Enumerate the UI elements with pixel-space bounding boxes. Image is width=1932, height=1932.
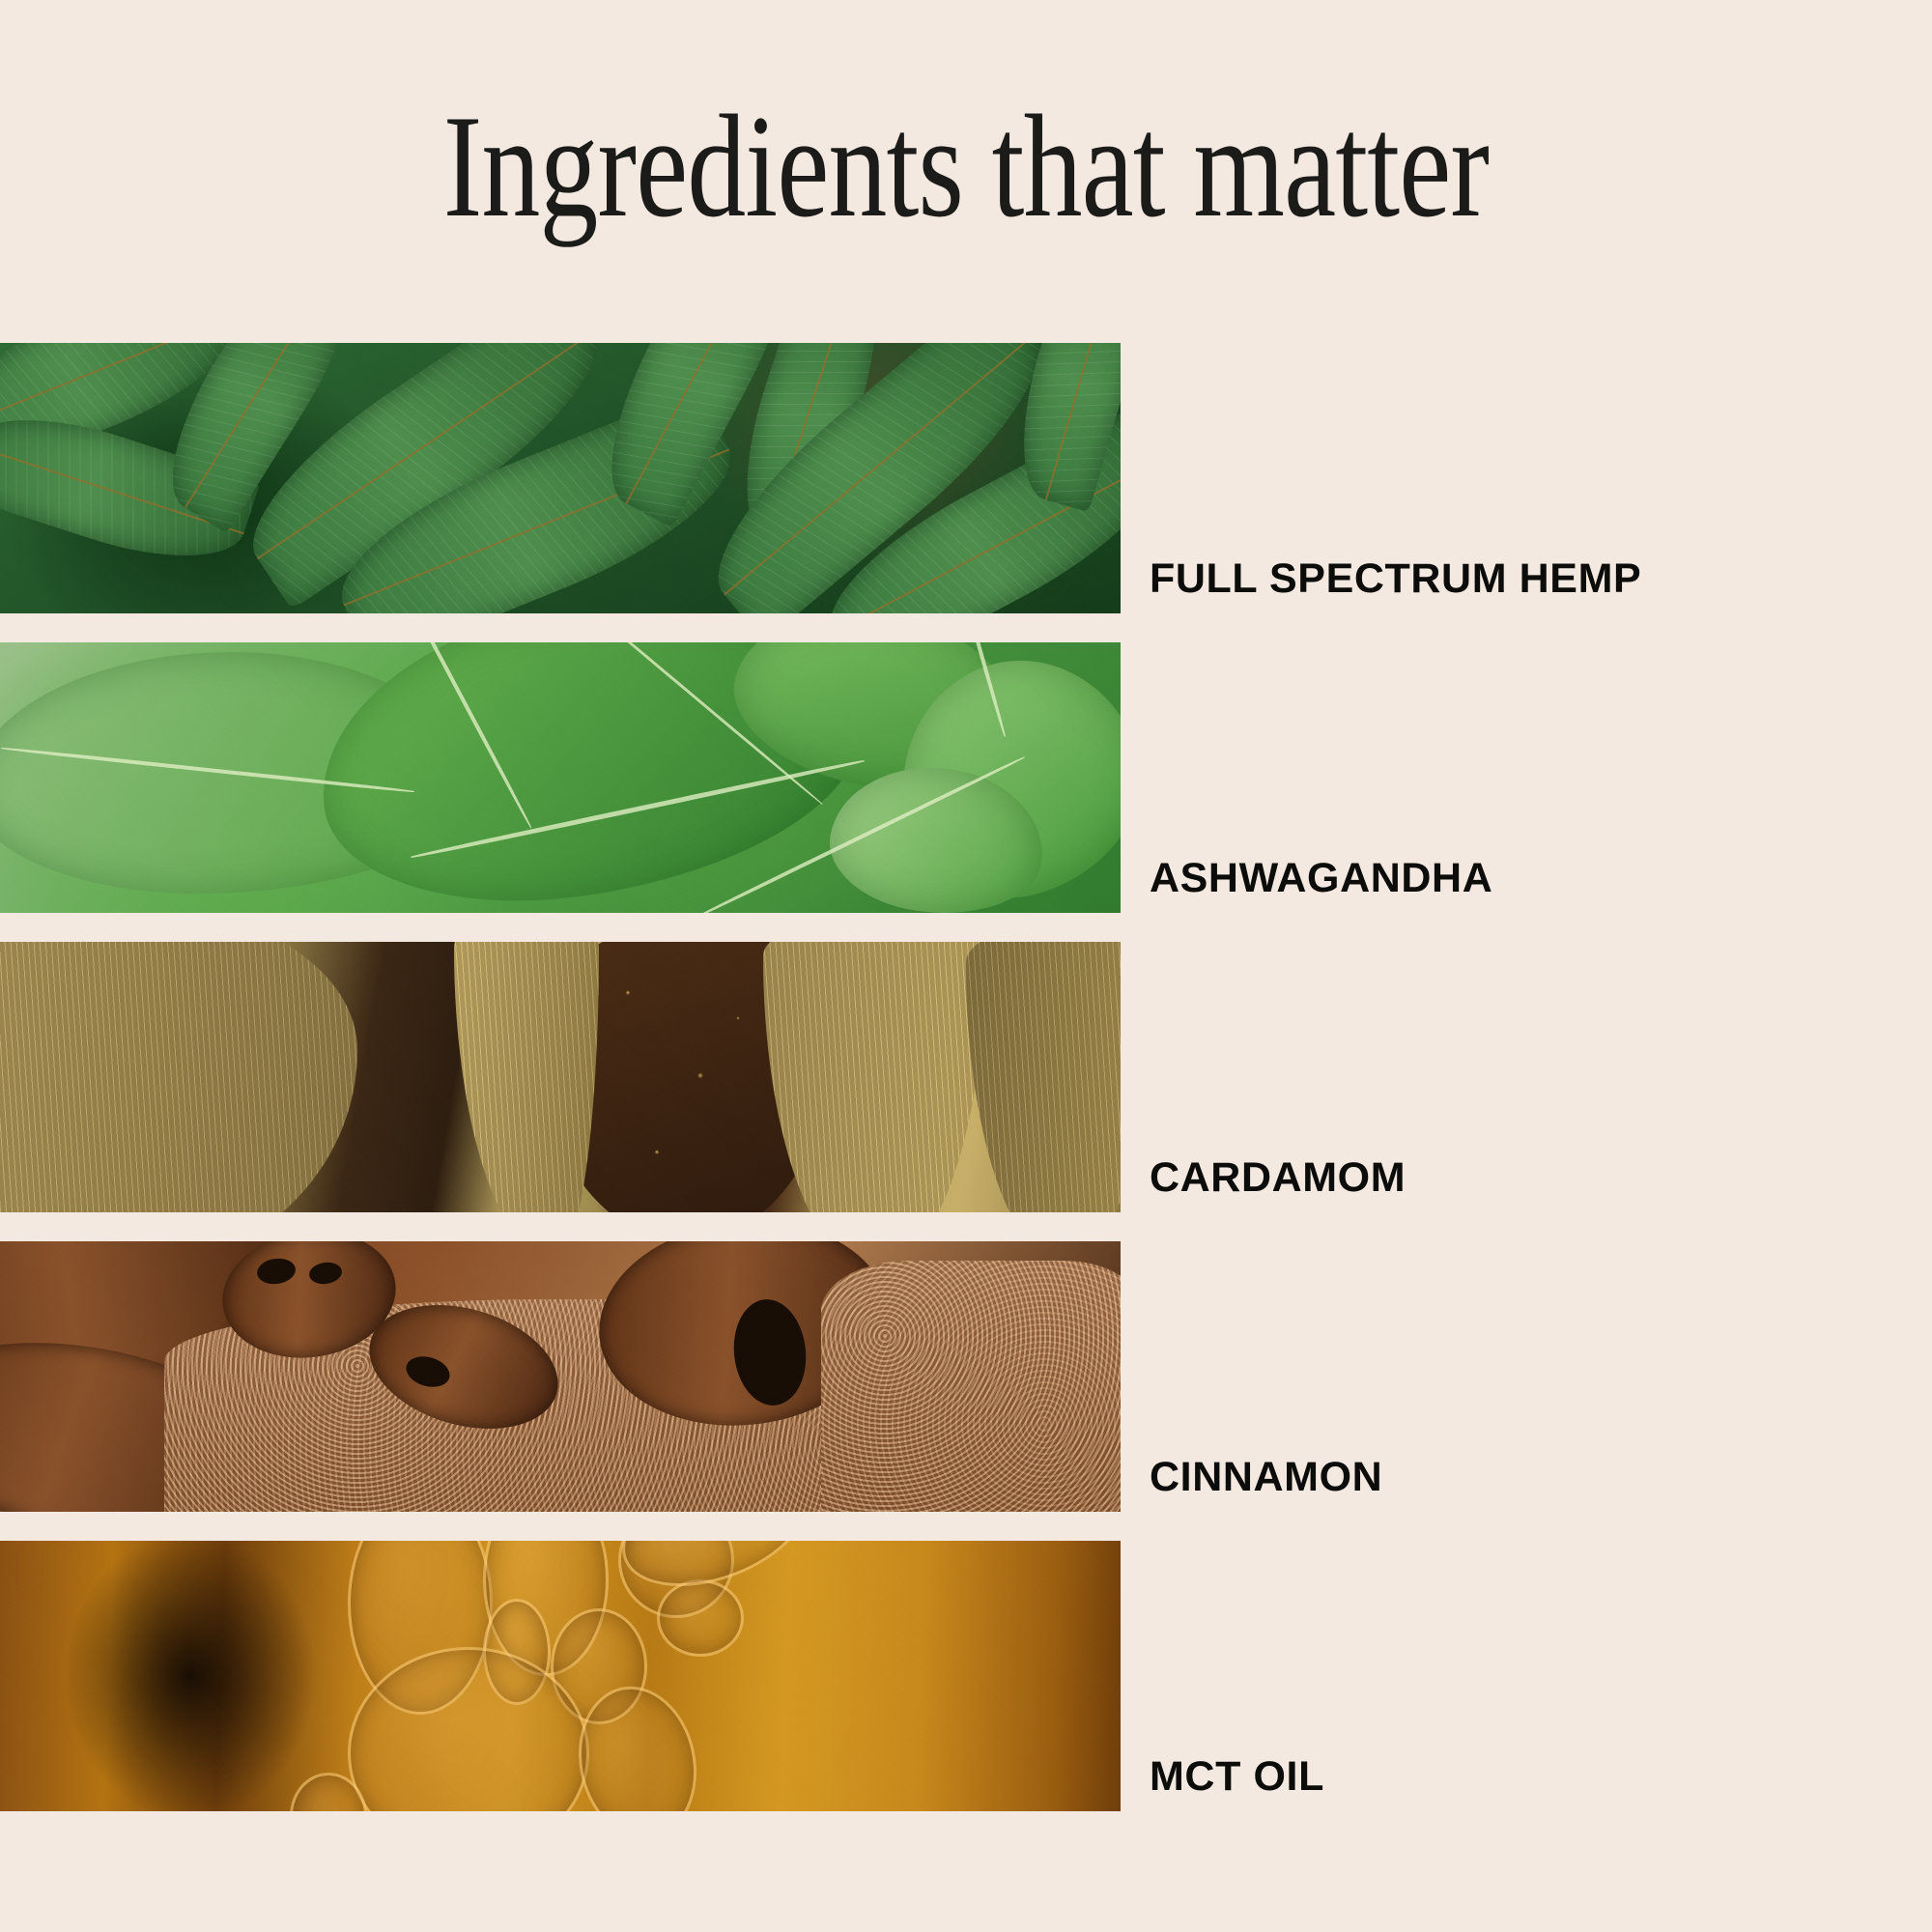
ingredient-label: ASHWAGANDHA [1150, 858, 1492, 899]
ingredient-row: MCT OIL [0, 1541, 1932, 1811]
ingredient-row: CINNAMON [0, 1241, 1932, 1512]
ingredient-row: FULL SPECTRUM HEMP [0, 343, 1932, 613]
ingredient-label: MCT OIL [1150, 1756, 1324, 1798]
ingredient-row: CARDAMOM [0, 942, 1932, 1212]
ingredient-list: FULL SPECTRUM HEMP ASHWAGANDHA [0, 343, 1932, 1811]
ashwagandha-image [0, 642, 1121, 913]
page-title: Ingredients that matter [193, 93, 1739, 240]
mct-oil-image [0, 1541, 1121, 1811]
ingredient-label: CARDAMOM [1150, 1157, 1406, 1199]
ingredient-label: FULL SPECTRUM HEMP [1150, 558, 1641, 600]
cinnamon-image [0, 1241, 1121, 1512]
ingredient-label: CINNAMON [1150, 1457, 1382, 1498]
cardamom-image [0, 942, 1121, 1212]
ingredient-row: ASHWAGANDHA [0, 642, 1932, 913]
hemp-leaves-image [0, 343, 1121, 613]
